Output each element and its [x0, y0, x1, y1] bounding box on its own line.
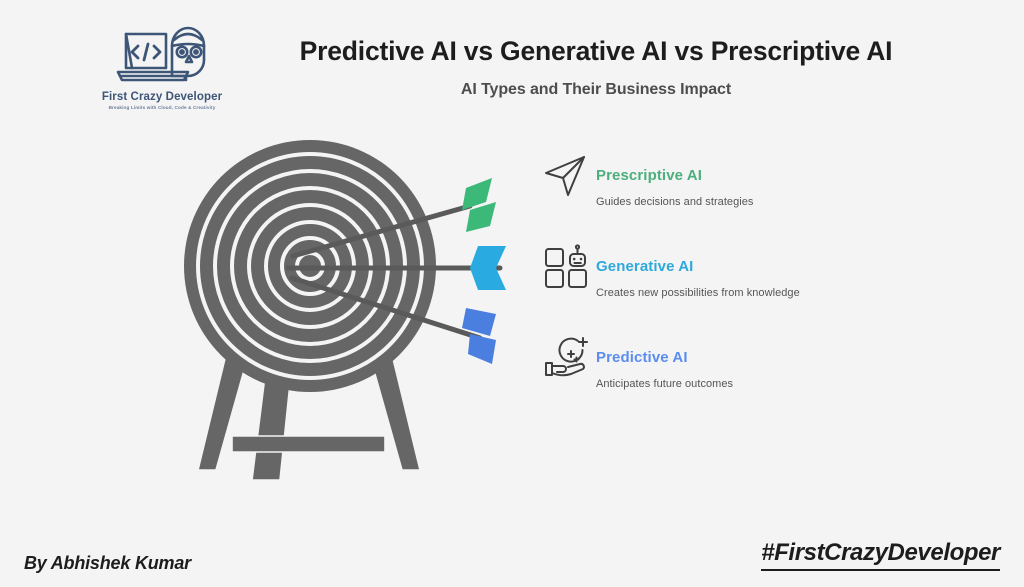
- legend-description: Anticipates future outcomes: [596, 378, 733, 390]
- hand-sparkle-forecast-icon: [540, 332, 592, 384]
- brand-logo: First Crazy Developer Breaking Limits wi…: [108, 22, 216, 130]
- legend-title: Prescriptive AI: [596, 167, 702, 184]
- brand-hashtag: #FirstCrazyDeveloper: [761, 539, 1000, 571]
- legend-item-predictive-ai[interactable]: Predictive AI Anticipates future outcome…: [540, 332, 960, 423]
- legend-description: Creates new possibilities from knowledge: [596, 287, 800, 299]
- legend-title: Predictive AI: [596, 349, 688, 366]
- robot-grid-icon: [540, 241, 592, 293]
- author-credit: By Abhishek Kumar: [24, 553, 191, 574]
- legend-list: Prescriptive AI Guides decisions and str…: [540, 150, 960, 423]
- title-block: Predictive AI vs Generative AI vs Prescr…: [216, 36, 976, 99]
- logo-name: First Crazy Developer: [102, 91, 222, 103]
- legend-item-prescriptive-ai[interactable]: Prescriptive AI Guides decisions and str…: [540, 150, 960, 241]
- logo-tagline: Breaking Limits with Cloud, Code & Creat…: [109, 105, 216, 110]
- page-subtitle: AI Types and Their Business Impact: [216, 81, 976, 99]
- archery-target-illustration: [170, 128, 560, 488]
- paper-plane-icon: [540, 150, 592, 202]
- page-title: Predictive AI vs Generative AI vs Prescr…: [216, 36, 976, 67]
- owl-laptop-code-logo-icon: [112, 22, 212, 88]
- legend-item-generative-ai[interactable]: Generative AI Creates new possibilities …: [540, 241, 960, 332]
- header: First Crazy Developer Breaking Limits wi…: [0, 0, 1024, 130]
- legend-description: Guides decisions and strategies: [596, 196, 753, 208]
- legend-title: Generative AI: [596, 258, 693, 275]
